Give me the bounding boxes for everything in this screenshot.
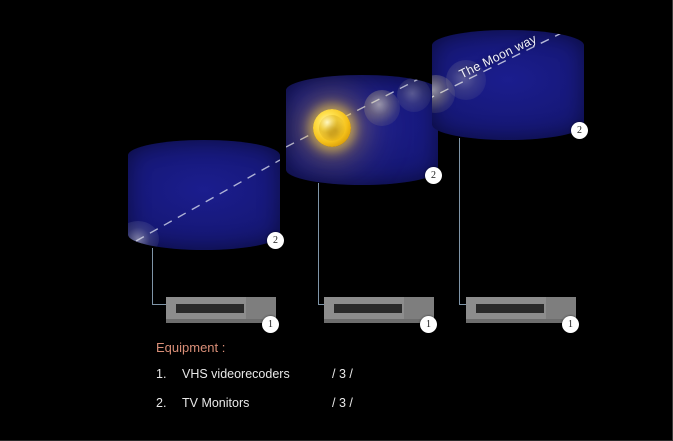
badge-vcr-left: 1	[262, 316, 279, 333]
moon-bright	[313, 109, 351, 147]
monitor-middle-screen	[286, 75, 438, 185]
badge-monitor-middle: 2	[425, 167, 442, 184]
monitor-right-screen: The Moon way	[432, 30, 584, 140]
vcr-tape-slot	[334, 304, 402, 313]
legend-item-quantity: / 3 /	[332, 367, 353, 381]
badge-vcr-right: 1	[562, 316, 579, 333]
vcr-base-lip	[466, 319, 576, 323]
legend-item-number: 1.	[156, 367, 182, 381]
legend-item: 1. VHS videorecoders / 3 /	[156, 367, 456, 381]
vhs-recorder-left	[166, 297, 276, 323]
badge-monitor-right: 2	[571, 122, 588, 139]
legend-item-number: 2.	[156, 396, 182, 410]
moon-ghost-right-a	[432, 75, 455, 113]
diagram-canvas: 2 2 The Moon way 2	[0, 0, 673, 441]
vcr-tape-slot	[176, 304, 244, 313]
badge-vcr-middle: 1	[420, 316, 437, 333]
legend-item: 2. TV Monitors / 3 /	[156, 396, 456, 410]
tv-monitor-left: 2	[128, 140, 280, 250]
moon-glow-left	[128, 221, 159, 250]
legend-item-label: VHS videorecoders	[182, 367, 332, 381]
equipment-legend: Equipment : 1. VHS videorecoders / 3 / 2…	[156, 340, 456, 425]
legend-item-quantity: / 3 /	[332, 396, 353, 410]
moon-trajectory-middle	[286, 75, 438, 185]
legend-item-label: TV Monitors	[182, 396, 332, 410]
vcr-tape-slot	[476, 304, 544, 313]
badge-monitor-left: 2	[267, 232, 284, 249]
vhs-recorder-middle	[324, 297, 434, 323]
moon-ghost-middle-near	[364, 90, 400, 126]
vcr-base-lip	[166, 319, 276, 323]
moon-ghost-middle-far	[397, 78, 431, 112]
vcr-base-lip	[324, 319, 434, 323]
tv-monitor-middle: 2	[286, 75, 438, 185]
moon-trajectory-left	[128, 140, 280, 250]
cable-middle-vertical	[318, 183, 319, 304]
cable-left-vertical	[152, 248, 153, 304]
vhs-recorder-right	[466, 297, 576, 323]
equipment-legend-title: Equipment :	[156, 340, 456, 355]
tv-monitor-right: The Moon way 2	[432, 30, 584, 140]
cable-right-vertical	[459, 138, 460, 304]
monitor-left-screen	[128, 140, 280, 250]
moon-way-label: The Moon way	[457, 32, 539, 82]
